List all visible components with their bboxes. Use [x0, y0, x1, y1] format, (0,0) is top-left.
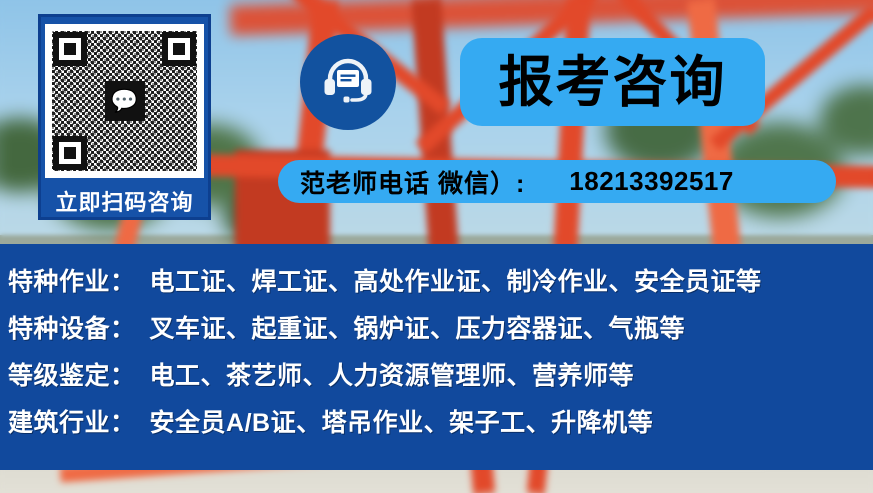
category-items: 叉车证、起重证、锅炉证、压力容器证、气瓶等 — [150, 309, 686, 345]
contact-phone-number[interactable]: 18213392517 — [569, 166, 734, 197]
category-label: 特种设备： — [8, 309, 136, 345]
qr-code-image[interactable]: 💬 — [45, 24, 204, 178]
wechat-logo-icon: 💬 — [105, 81, 145, 121]
category-label: 等级鉴定： — [8, 356, 136, 392]
category-row-construction-industry: 建筑行业： 安全员A/B证、塔吊作业、架子工、升降机等 — [0, 403, 873, 450]
category-items: 电工证、焊工证、高处作业证、制冷作业、安全员证等 — [150, 262, 762, 298]
qr-finder-top-right — [162, 32, 196, 66]
category-label: 建筑行业： — [8, 403, 136, 439]
enrollment-consult-title: 报考咨询 — [460, 38, 765, 126]
category-items: 电工、茶艺师、人力资源管理师、营养师等 — [150, 356, 635, 392]
promo-poster: 💬 立即扫码咨询 报考咨询 范老师电话 微信）: 18213392517 特种作… — [0, 0, 873, 493]
headset-support-icon — [317, 51, 379, 113]
category-row-special-equipment: 特种设备： 叉车证、起重证、锅炉证、压力容器证、气瓶等 — [0, 309, 873, 356]
category-row-skill-grading: 等级鉴定： 电工、茶艺师、人力资源管理师、营养师等 — [0, 356, 873, 403]
qr-caption: 立即扫码咨询 — [55, 185, 193, 217]
wechat-glyph: 💬 — [111, 90, 138, 112]
qr-finder-top-left — [53, 32, 87, 66]
title-text: 报考咨询 — [498, 55, 726, 110]
contact-label: 范老师电话 微信）: — [300, 164, 525, 200]
qr-finder-bottom-left — [53, 136, 87, 170]
contact-phone-bar[interactable]: 范老师电话 微信）: 18213392517 — [278, 160, 836, 203]
category-row-special-operations: 特种作业： 电工证、焊工证、高处作业证、制冷作业、安全员证等 — [0, 262, 873, 309]
qr-code-card[interactable]: 💬 立即扫码咨询 — [38, 14, 211, 220]
category-items: 安全员A/B证、塔吊作业、架子工、升降机等 — [150, 403, 654, 439]
category-label: 特种作业： — [8, 262, 136, 298]
headset-support-badge — [300, 34, 396, 130]
certification-categories-panel: 特种作业： 电工证、焊工证、高处作业证、制冷作业、安全员证等 特种设备： 叉车证… — [0, 244, 873, 470]
